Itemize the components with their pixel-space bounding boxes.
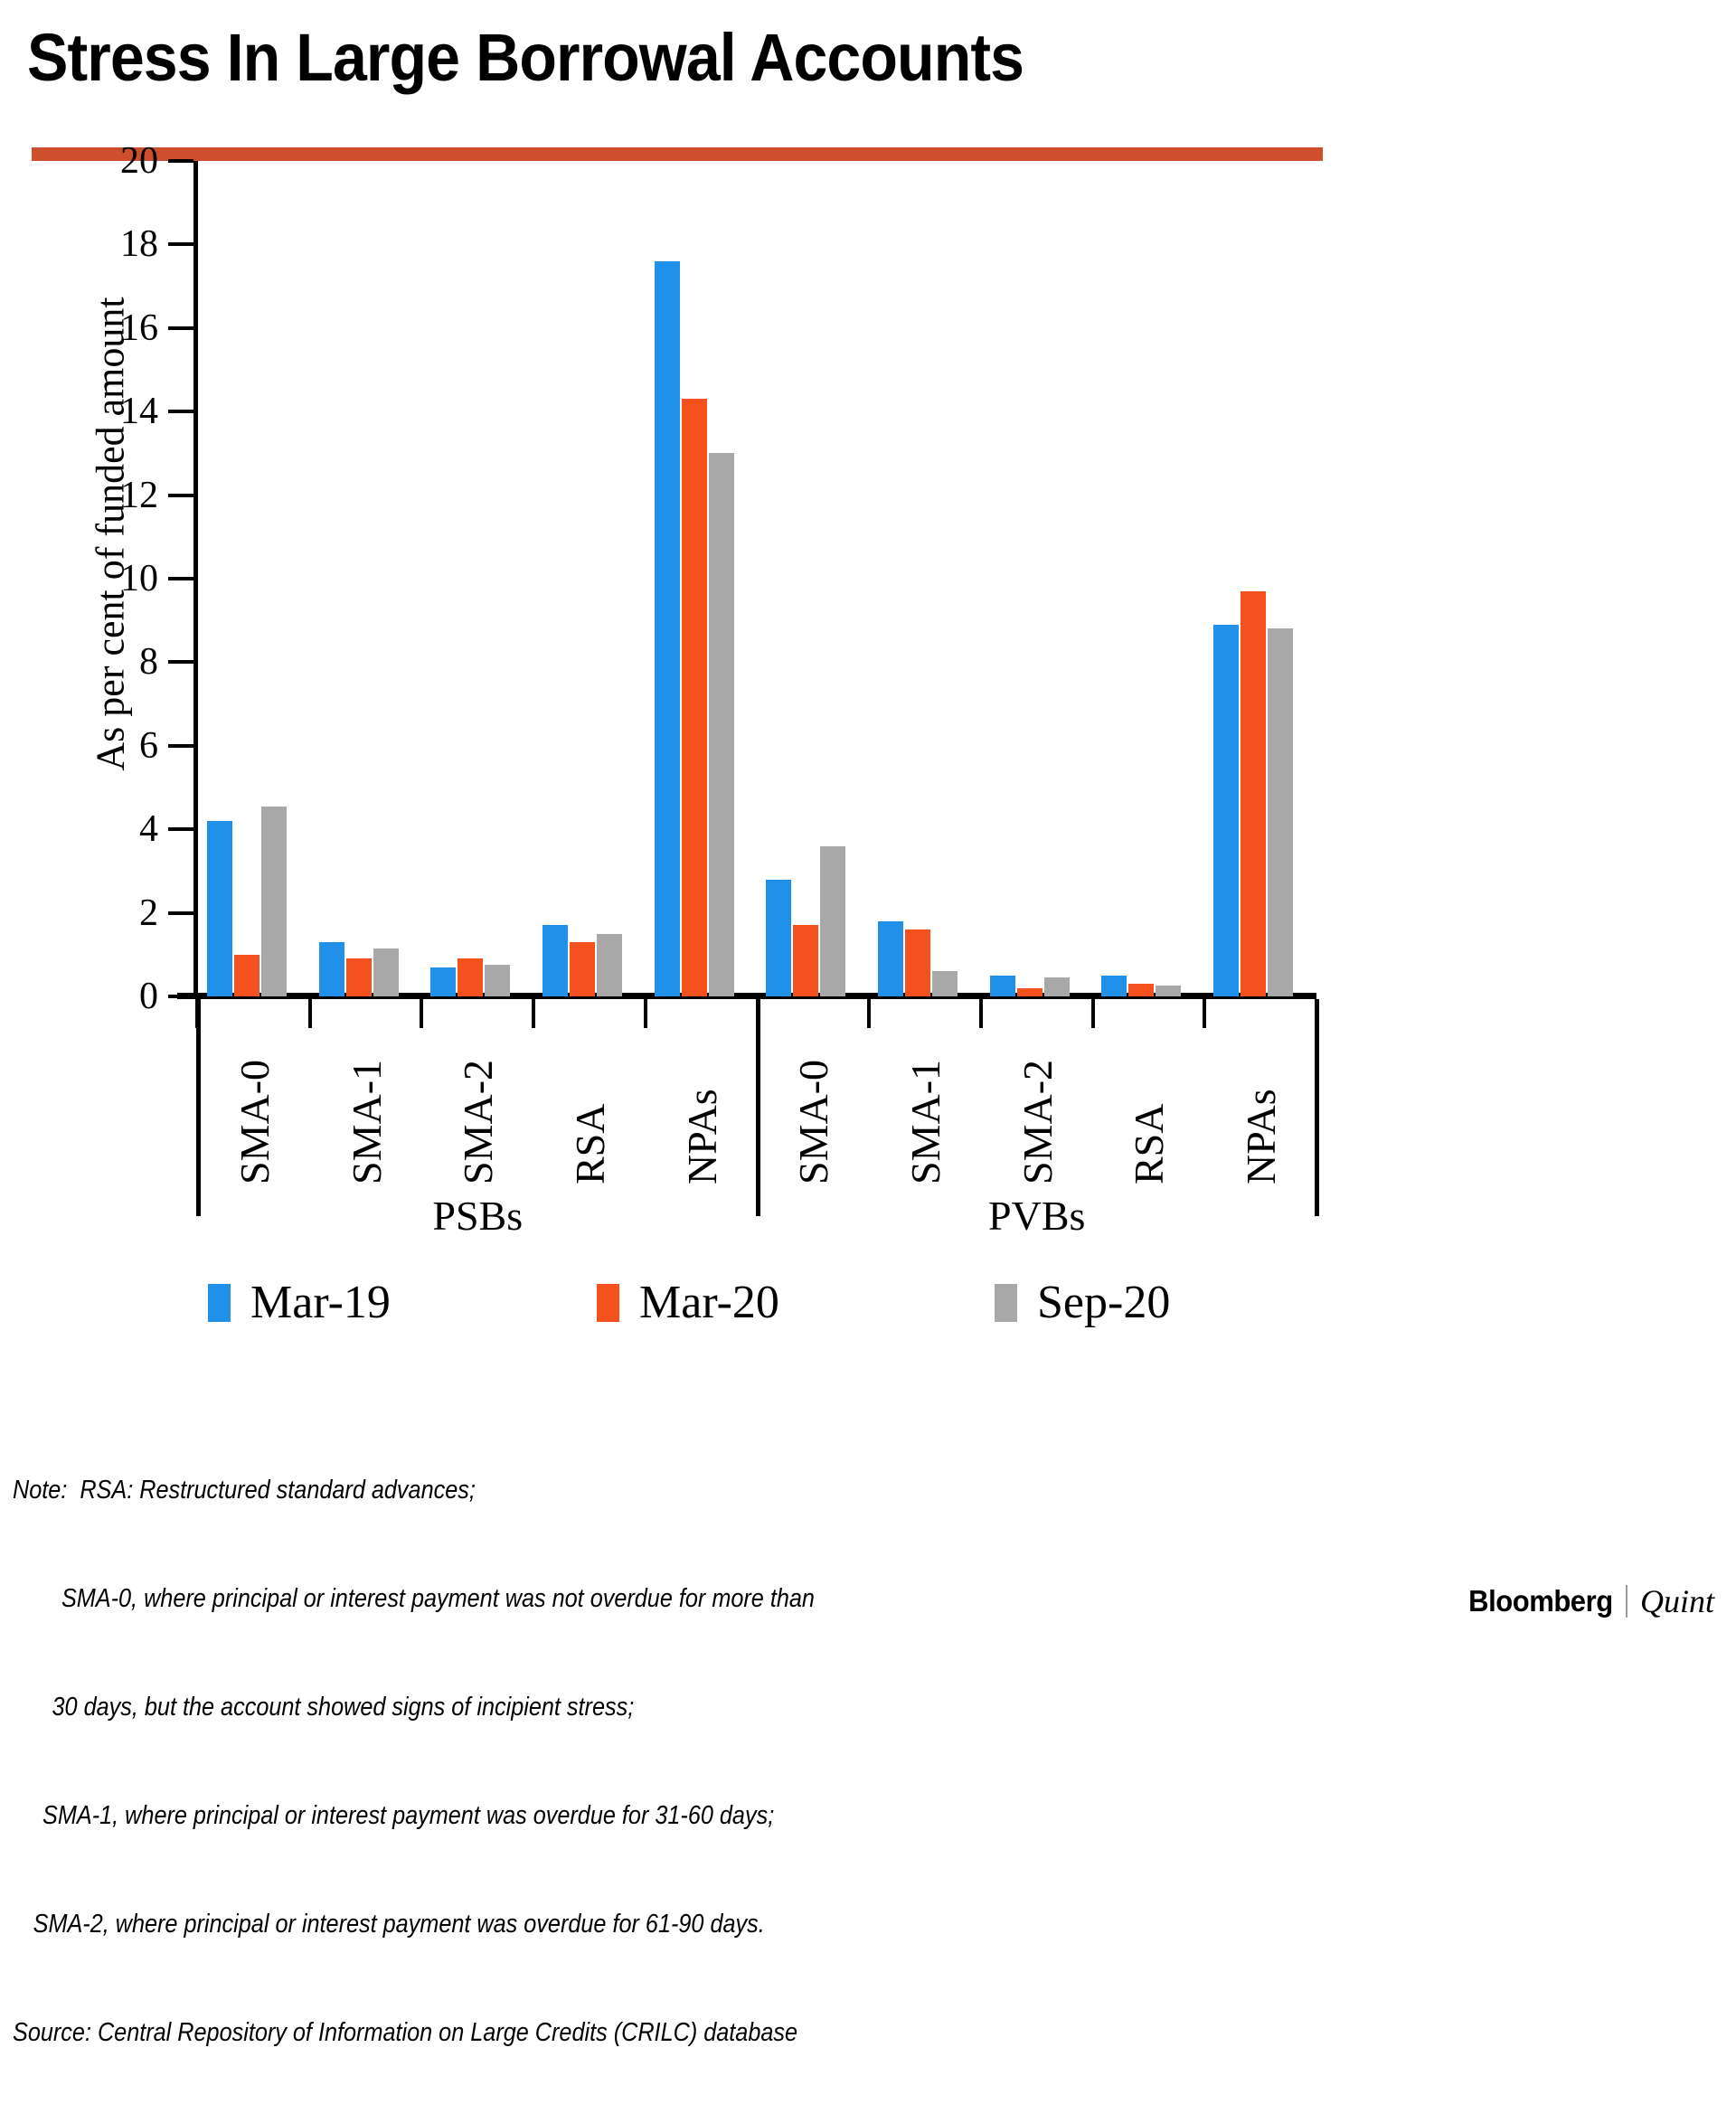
x-tick-mark bbox=[1203, 999, 1206, 1028]
bar-mar-19-pvbs-rsa bbox=[1101, 976, 1127, 996]
brand-quint-text: Quint bbox=[1640, 1582, 1714, 1620]
bar-chart: As per cent of funded amount 02468101214… bbox=[0, 0, 1736, 1637]
y-tick-label: 4 bbox=[139, 810, 158, 848]
bar-sep-20-psbs-sma-0 bbox=[261, 807, 287, 996]
x-category-label-psbs-npas: NPAs bbox=[682, 1089, 723, 1184]
x-category-label-pvbs-sma-2: SMA-2 bbox=[1017, 1060, 1059, 1184]
bar-group bbox=[430, 161, 510, 996]
legend-label: Mar-20 bbox=[639, 1279, 779, 1326]
bar-mar-19-psbs-sma-1 bbox=[319, 942, 344, 996]
bar-mar-20-pvbs-sma-1 bbox=[905, 929, 930, 996]
x-tick-mark bbox=[644, 999, 647, 1028]
x-tick-mark bbox=[532, 999, 535, 1028]
x-tick-mark bbox=[979, 999, 983, 1028]
x-tick-mark bbox=[867, 999, 871, 1028]
y-tick-label: 8 bbox=[139, 643, 158, 681]
bar-sep-20-psbs-sma-1 bbox=[373, 948, 399, 996]
x-category-label-psbs-sma-2: SMA-2 bbox=[458, 1060, 499, 1184]
bar-sep-20-pvbs-rsa bbox=[1156, 986, 1181, 996]
y-tick-label: 20 bbox=[120, 142, 158, 180]
x-category-label-psbs-sma-1: SMA-1 bbox=[346, 1060, 388, 1184]
plot-area bbox=[198, 161, 1316, 996]
bar-group bbox=[878, 161, 958, 996]
bar-group bbox=[319, 161, 399, 996]
y-tick-label: 0 bbox=[139, 977, 158, 1015]
bar-sep-20-pvbs-sma-1 bbox=[932, 971, 958, 996]
brand-divider bbox=[1626, 1585, 1627, 1618]
y-tick-mark bbox=[168, 159, 193, 163]
note-line-5: SMA-2, where principal or interest payme… bbox=[13, 1906, 1193, 1942]
bar-group bbox=[207, 161, 287, 996]
x-category-label-pvbs-sma-1: SMA-1 bbox=[905, 1060, 947, 1184]
x-category-label-psbs-sma-0: SMA-0 bbox=[234, 1060, 276, 1184]
bar-sep-20-pvbs-npas bbox=[1268, 628, 1293, 996]
bar-mar-20-pvbs-sma-0 bbox=[793, 925, 818, 996]
bar-mar-20-psbs-sma-0 bbox=[234, 955, 259, 996]
x-tick-mark bbox=[1091, 999, 1095, 1028]
bar-sep-20-psbs-rsa bbox=[597, 934, 622, 996]
note-line-3: 30 days, but the account showed signs of… bbox=[13, 1689, 1193, 1725]
brand-logo: Bloomberg Quint bbox=[1459, 1582, 1714, 1620]
bar-group bbox=[542, 161, 622, 996]
x-category-label-pvbs-rsa: RSA bbox=[1128, 1104, 1170, 1184]
bar-mar-20-psbs-sma-2 bbox=[458, 958, 483, 996]
note-source: Source: Central Repository of Informatio… bbox=[13, 2014, 1193, 2051]
y-tick-mark bbox=[168, 660, 193, 664]
bar-mar-19-psbs-sma-2 bbox=[430, 967, 456, 996]
y-tick-mark bbox=[168, 995, 193, 998]
legend-item-mar-19[interactable]: Mar-19 bbox=[208, 1279, 391, 1326]
legend-swatch-icon bbox=[995, 1284, 1017, 1322]
bar-sep-20-pvbs-sma-0 bbox=[820, 846, 845, 996]
bar-sep-20-psbs-npas bbox=[709, 453, 734, 996]
chart-legend: Mar-19Mar-20Sep-20 bbox=[190, 1279, 1329, 1343]
chart-page: Stress In Large Borrowal Accounts As per… bbox=[0, 0, 1736, 1637]
bar-mar-20-pvbs-npas bbox=[1241, 591, 1266, 996]
panel-label-psbs: PSBs bbox=[369, 1195, 586, 1237]
y-tick-mark bbox=[168, 326, 193, 330]
bar-group bbox=[990, 161, 1070, 996]
panel-separator bbox=[756, 999, 760, 1216]
panel-label-pvbs: PVBs bbox=[929, 1195, 1146, 1237]
y-tick-mark bbox=[168, 827, 193, 831]
legend-swatch-icon bbox=[208, 1284, 231, 1322]
legend-label: Sep-20 bbox=[1037, 1279, 1170, 1326]
bar-mar-19-psbs-sma-0 bbox=[207, 821, 232, 996]
bar-group bbox=[1101, 161, 1181, 996]
y-tick-label: 14 bbox=[120, 392, 158, 430]
note-line-1: Note: RSA: Restructured standard advance… bbox=[13, 1472, 1193, 1508]
x-category-label-pvbs-sma-0: SMA-0 bbox=[793, 1060, 835, 1184]
note-line-2: SMA-0, where principal or interest payme… bbox=[13, 1580, 1193, 1617]
y-tick-label: 18 bbox=[120, 225, 158, 263]
panel-separator bbox=[1315, 999, 1319, 1216]
y-tick-mark bbox=[168, 577, 193, 580]
x-category-label-pvbs-npas: NPAs bbox=[1241, 1089, 1282, 1184]
bar-mar-20-pvbs-sma-2 bbox=[1017, 988, 1043, 996]
bar-mar-19-pvbs-sma-2 bbox=[990, 976, 1015, 996]
bar-mar-20-psbs-sma-1 bbox=[346, 958, 372, 996]
bar-mar-19-pvbs-npas bbox=[1213, 625, 1239, 996]
bar-sep-20-pvbs-sma-2 bbox=[1044, 977, 1070, 996]
brand-bloomberg-text: Bloomberg bbox=[1468, 1584, 1612, 1618]
bar-mar-20-psbs-rsa bbox=[570, 942, 595, 996]
x-category-label-psbs-rsa: RSA bbox=[570, 1104, 611, 1184]
y-tick-mark bbox=[168, 744, 193, 748]
y-tick-mark bbox=[168, 410, 193, 413]
bar-mar-19-pvbs-sma-1 bbox=[878, 921, 903, 996]
y-tick-mark bbox=[168, 911, 193, 915]
x-tick-mark bbox=[308, 999, 312, 1028]
legend-swatch-icon bbox=[597, 1284, 619, 1322]
y-tick-mark bbox=[168, 494, 193, 497]
bar-group bbox=[1213, 161, 1293, 996]
bar-mar-19-psbs-npas bbox=[655, 261, 680, 996]
bar-group bbox=[655, 161, 734, 996]
bar-mar-19-pvbs-sma-0 bbox=[766, 880, 791, 996]
legend-label: Mar-19 bbox=[250, 1279, 391, 1326]
panel-separator bbox=[196, 999, 201, 1216]
y-tick-label: 12 bbox=[120, 476, 158, 514]
y-tick-label: 16 bbox=[120, 309, 158, 347]
bar-sep-20-psbs-sma-2 bbox=[485, 965, 510, 996]
y-tick-label: 10 bbox=[120, 560, 158, 598]
bar-mar-20-psbs-npas bbox=[682, 399, 707, 996]
bar-mar-19-psbs-rsa bbox=[542, 925, 568, 996]
x-tick-mark bbox=[420, 999, 423, 1028]
y-tick-label: 2 bbox=[139, 894, 158, 932]
footnotes: Note: RSA: Restructured standard advance… bbox=[13, 1400, 1193, 2123]
y-tick-mark bbox=[168, 242, 193, 246]
legend-item-mar-20[interactable]: Mar-20 bbox=[597, 1279, 779, 1326]
bar-group bbox=[766, 161, 845, 996]
bar-mar-20-pvbs-rsa bbox=[1128, 984, 1154, 996]
note-line-4: SMA-1, where principal or interest payme… bbox=[13, 1797, 1193, 1834]
y-tick-label: 6 bbox=[139, 727, 158, 765]
legend-item-sep-20[interactable]: Sep-20 bbox=[995, 1279, 1170, 1326]
